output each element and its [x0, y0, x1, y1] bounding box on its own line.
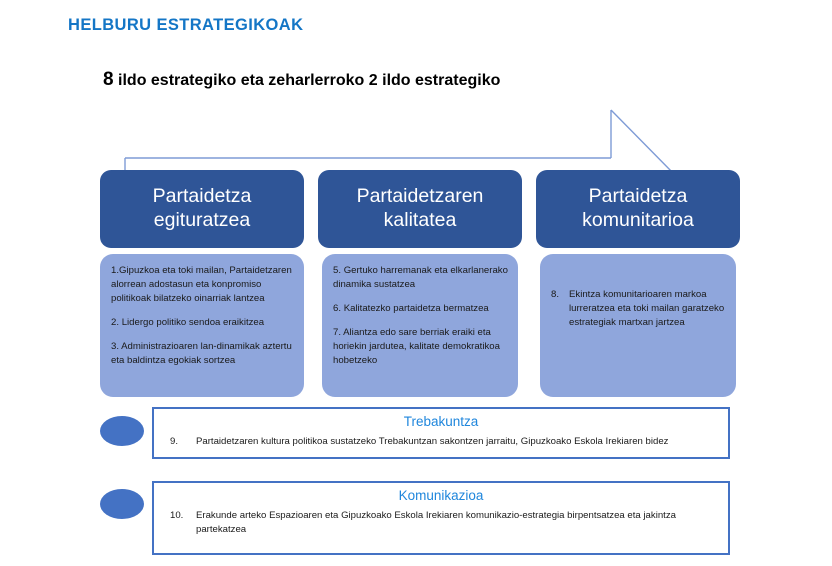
list-item: 1.Gipuzkoa eta toki mailan, Partaidetzar…	[111, 264, 294, 306]
column-body-1: 1.Gipuzkoa eta toki mailan, Partaidetzar…	[100, 254, 304, 397]
item-text: Gipuzkoa eta toki mailan, Partaidetzaren…	[111, 265, 292, 304]
item-number: 7.	[333, 327, 341, 338]
list-item: 3. Administrazioaren lan-dinamikak azter…	[111, 340, 294, 368]
transversal-row-trebakuntza: Trebakuntza 9. Partaidetzaren kultura po…	[100, 407, 730, 459]
list-item: 5. Gertuko harremanak eta elkarlanerako …	[333, 264, 508, 292]
item-text: Administrazioaren lan-dinamikak aztertu …	[111, 341, 292, 366]
list-item: 10. Erakunde arteko Espazioaren eta Gipu…	[164, 509, 718, 537]
list-item: 9. Partaidetzaren kultura politikoa sust…	[164, 435, 718, 449]
subtitle-lead-number: 8	[103, 69, 114, 90]
transversal-title-1: Trebakuntza	[164, 413, 718, 432]
transversal-box-1[interactable]: Trebakuntza 9. Partaidetzaren kultura po…	[152, 407, 730, 459]
strategic-lines-columns: Partaidetza egituratzea 1.Gipuzkoa eta t…	[100, 170, 745, 400]
transversal-row-komunikazioa: Komunikazioa 10. Erakunde arteko Espazio…	[100, 481, 730, 555]
column-body-2: 5. Gertuko harremanak eta elkarlanerako …	[322, 254, 518, 397]
item-text: Ekintza komunitarioaren markoa lurreratz…	[569, 288, 726, 330]
page-title: HELBURU ESTRATEGIKOAK	[68, 16, 303, 35]
subtitle-text: ildo estrategiko eta zeharlerroko 2 ildo…	[114, 72, 501, 89]
column-header-1[interactable]: Partaidetza egituratzea	[100, 170, 304, 248]
item-number: 9.	[170, 435, 188, 449]
item-number: 6.	[333, 303, 341, 314]
bullet-circle-icon	[100, 489, 144, 519]
column-partaidetza-komunitarioa: Partaidetza komunitarioa 8. Ekintza komu…	[536, 170, 740, 397]
list-item: 6. Kalitatezko partaidetza bermatzea	[333, 302, 508, 316]
column-partaidetzaren-kalitatea: Partaidetzaren kalitatea 5. Gertuko harr…	[318, 170, 522, 397]
column-header-2[interactable]: Partaidetzaren kalitatea	[318, 170, 522, 248]
column-body-3: 8. Ekintza komunitarioaren markoa lurrer…	[540, 254, 736, 397]
column-partaidetza-egituratzea: Partaidetza egituratzea 1.Gipuzkoa eta t…	[100, 170, 304, 397]
column-header-3[interactable]: Partaidetza komunitarioa	[536, 170, 740, 248]
list-item: 8. Ekintza komunitarioaren markoa lurrer…	[551, 288, 726, 330]
connector-diagonal-line	[611, 110, 675, 175]
transversal-title-2: Komunikazioa	[164, 487, 718, 506]
list-item: 7. Aliantza edo sare berriak eraiki eta …	[333, 326, 508, 368]
item-text: Gertuko harremanak eta elkarlanerako din…	[333, 265, 508, 290]
item-text: Partaidetzaren kultura politikoa sustatz…	[196, 435, 718, 449]
item-number: 3.	[111, 341, 119, 352]
item-number: 1.	[111, 265, 119, 276]
item-number: 10.	[170, 509, 188, 537]
item-text: Kalitatezko partaidetza bermatzea	[344, 303, 489, 314]
item-number: 5.	[333, 265, 341, 276]
item-text: Aliantza edo sare berriak eraiki eta hor…	[333, 327, 500, 366]
item-number: 2.	[111, 317, 119, 328]
bullet-circle-icon	[100, 416, 144, 446]
item-text: Lidergo politiko sendoa eraikitzea	[122, 317, 264, 328]
list-item: 2. Lidergo politiko sendoa eraikitzea	[111, 316, 294, 330]
item-number: 8.	[551, 288, 559, 330]
transversal-box-2[interactable]: Komunikazioa 10. Erakunde arteko Espazio…	[152, 481, 730, 555]
subtitle: 8 ildo estrategiko eta zeharlerroko 2 il…	[103, 69, 500, 91]
item-text: Erakunde arteko Espazioaren eta Gipuzkoa…	[196, 509, 718, 537]
